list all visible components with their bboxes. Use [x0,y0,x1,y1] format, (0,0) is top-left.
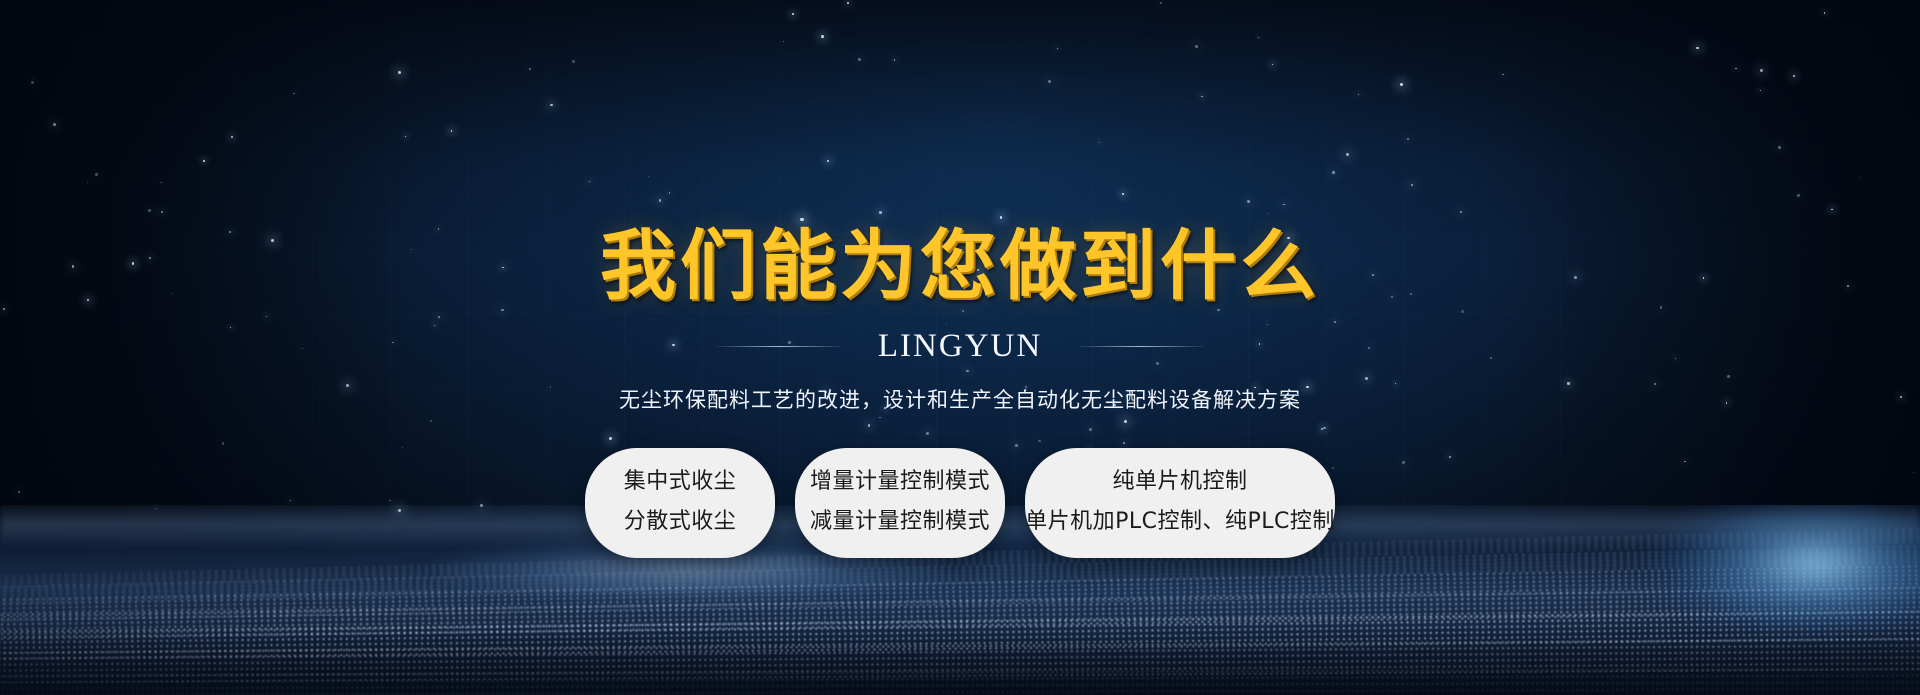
star-dot [966,370,968,372]
star-dot [434,325,435,326]
star-dot [203,160,204,161]
star-dot [659,199,662,202]
star-dot [1201,96,1203,98]
star-dot [926,432,929,435]
star-dot [1696,47,1699,50]
star-dot [1760,69,1763,72]
star-dot [1247,200,1250,203]
pill-line: 减量计量控制模式 [810,508,990,536]
brand-name: LINGYUN [878,328,1042,365]
divider-right [1078,346,1204,347]
star-dot [1332,171,1335,174]
pill-line: 分散式收尘 [624,508,737,536]
star-dot [1089,428,1092,431]
pill-line: 单片机加PLC控制、纯PLC控制 [1025,508,1335,536]
star-dot [1824,12,1825,13]
star-dot [1057,48,1058,49]
star-dot [1859,177,1861,179]
star-dot [1283,204,1285,206]
star-dot [398,71,401,74]
star-dot [894,59,896,61]
star-dot [792,13,794,15]
star-dot [1365,377,1368,380]
star-dot [231,136,233,138]
star-dot [31,81,34,84]
mesh-bottom-fade [0,625,1920,695]
star-dot [550,104,553,107]
star-dot [160,182,162,184]
star-dot [1797,194,1800,197]
star-dot [1727,375,1730,378]
feature-pill-group: 集中式收尘 分散式收尘 增量计量控制模式 减量计量控制模式 纯单片机控制 单片机… [0,448,1920,558]
star-dot [266,316,268,318]
banner-description: 无尘环保配料工艺的改进，设计和生产全自动化无尘配料设备解决方案 [0,384,1920,414]
star-dot [430,420,432,422]
star-dot [405,136,406,137]
star-dot [1015,444,1018,447]
star-dot [1122,193,1124,195]
star-dot [1160,2,1162,4]
star-dot [1358,94,1359,95]
star-dot [821,35,824,38]
star-dot [1048,80,1051,83]
feature-pill-metering-mode[interactable]: 增量计量控制模式 减量计量控制模式 [795,448,1005,558]
star-dot [1831,209,1833,211]
star-dot [1195,45,1198,48]
star-dot [87,182,88,183]
star-dot [827,160,829,162]
star-dot [1267,324,1268,325]
star-dot [1123,442,1125,444]
star-dot [1502,74,1503,75]
pill-line: 纯单片机控制 [1112,468,1247,496]
star-dot [868,424,870,426]
star-dot [783,41,784,42]
pill-line: 增量计量控制模式 [810,468,990,496]
star-dot [33,78,34,79]
star-dot [1778,146,1781,149]
star-dot [669,192,670,193]
star-dot [438,316,441,319]
star-dot [1460,211,1462,213]
star-dot [529,68,531,70]
pill-line: 集中式收尘 [624,468,737,496]
star-dot [1407,138,1409,140]
star-dot [451,130,453,132]
page-title: 我们能为您做到什么 [0,218,1920,314]
star-dot [161,211,163,213]
star-dot [1099,142,1101,144]
star-dot [1323,427,1325,429]
star-dot [1400,83,1403,86]
star-dot [609,437,612,440]
star-dot [1334,321,1336,323]
star-dot [1124,420,1127,423]
star-dot [95,173,98,176]
star-dot [879,211,882,214]
star-dot [589,181,591,183]
star-dot [148,209,151,212]
feature-pill-dust-collection[interactable]: 集中式收尘 分散式收尘 [585,448,775,558]
star-dot [1267,213,1268,214]
star-dot [847,2,849,4]
brand-subtitle-row: LINGYUN [0,328,1920,365]
star-dot [1038,440,1041,443]
star-dot [1258,37,1259,38]
star-dot [858,58,861,61]
star-dot [1411,184,1413,186]
divider-left [716,346,842,347]
feature-pill-control-system[interactable]: 纯单片机控制 单片机加PLC控制、纯PLC控制 [1025,448,1335,558]
star-dot [648,176,649,177]
star-dot [222,442,225,445]
star-dot [1760,90,1761,91]
star-dot [1735,68,1736,69]
star-dot [946,323,947,324]
star-dot [293,93,295,95]
star-dot [1793,75,1795,77]
star-dot [572,60,575,63]
hero-banner: 我们能为您做到什么 LINGYUN 无尘环保配料工艺的改进，设计和生产全自动化无… [0,0,1920,695]
star-dot [1272,64,1274,66]
star-dot [1346,153,1349,156]
star-dot [53,123,56,126]
star-dot [879,417,881,419]
